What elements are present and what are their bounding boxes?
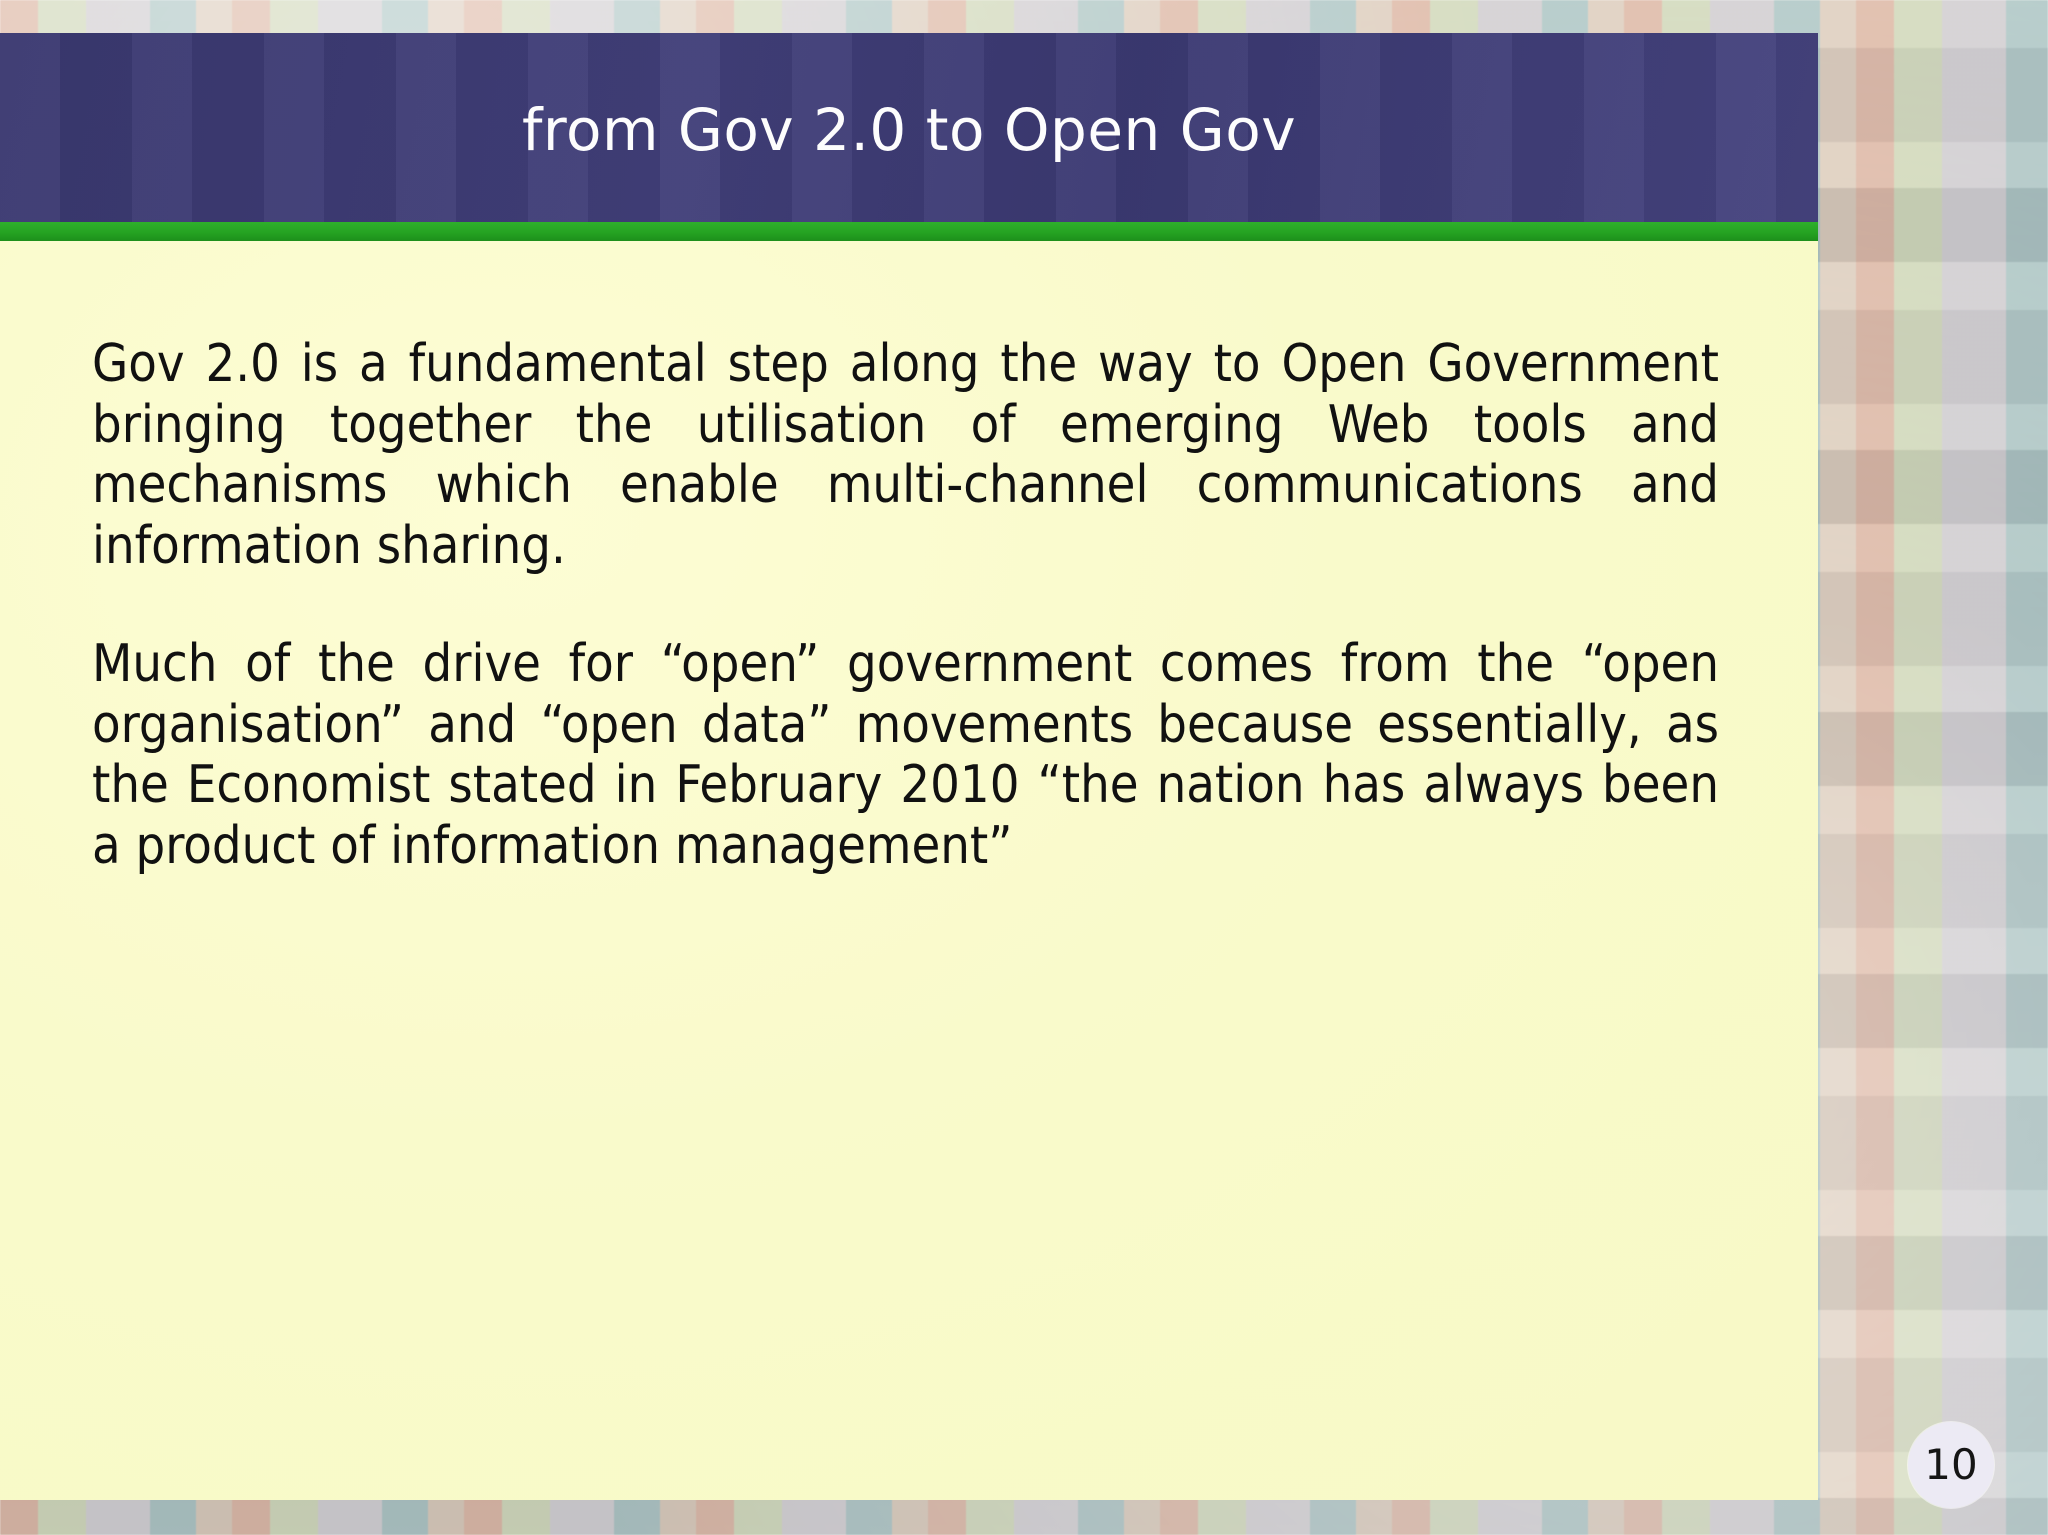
body-text-block: Gov 2.0 is a fundamental step along the … bbox=[92, 334, 1719, 877]
slide-title-bar: from Gov 2.0 to Open Gov bbox=[0, 33, 1818, 222]
body-paragraph-2: Much of the drive for “open” government … bbox=[92, 634, 1719, 876]
body-paragraph-1: Gov 2.0 is a fundamental step along the … bbox=[92, 334, 1719, 576]
page-number-value: 10 bbox=[1924, 1444, 1977, 1486]
title-divider-rule bbox=[0, 222, 1818, 241]
slide-content-panel: Gov 2.0 is a fundamental step along the … bbox=[0, 241, 1818, 1500]
slide: from Gov 2.0 to Open Gov Gov 2.0 is a fu… bbox=[0, 0, 2048, 1535]
page-number-badge: 10 bbox=[1908, 1422, 1994, 1508]
page-title: from Gov 2.0 to Open Gov bbox=[522, 99, 1296, 163]
